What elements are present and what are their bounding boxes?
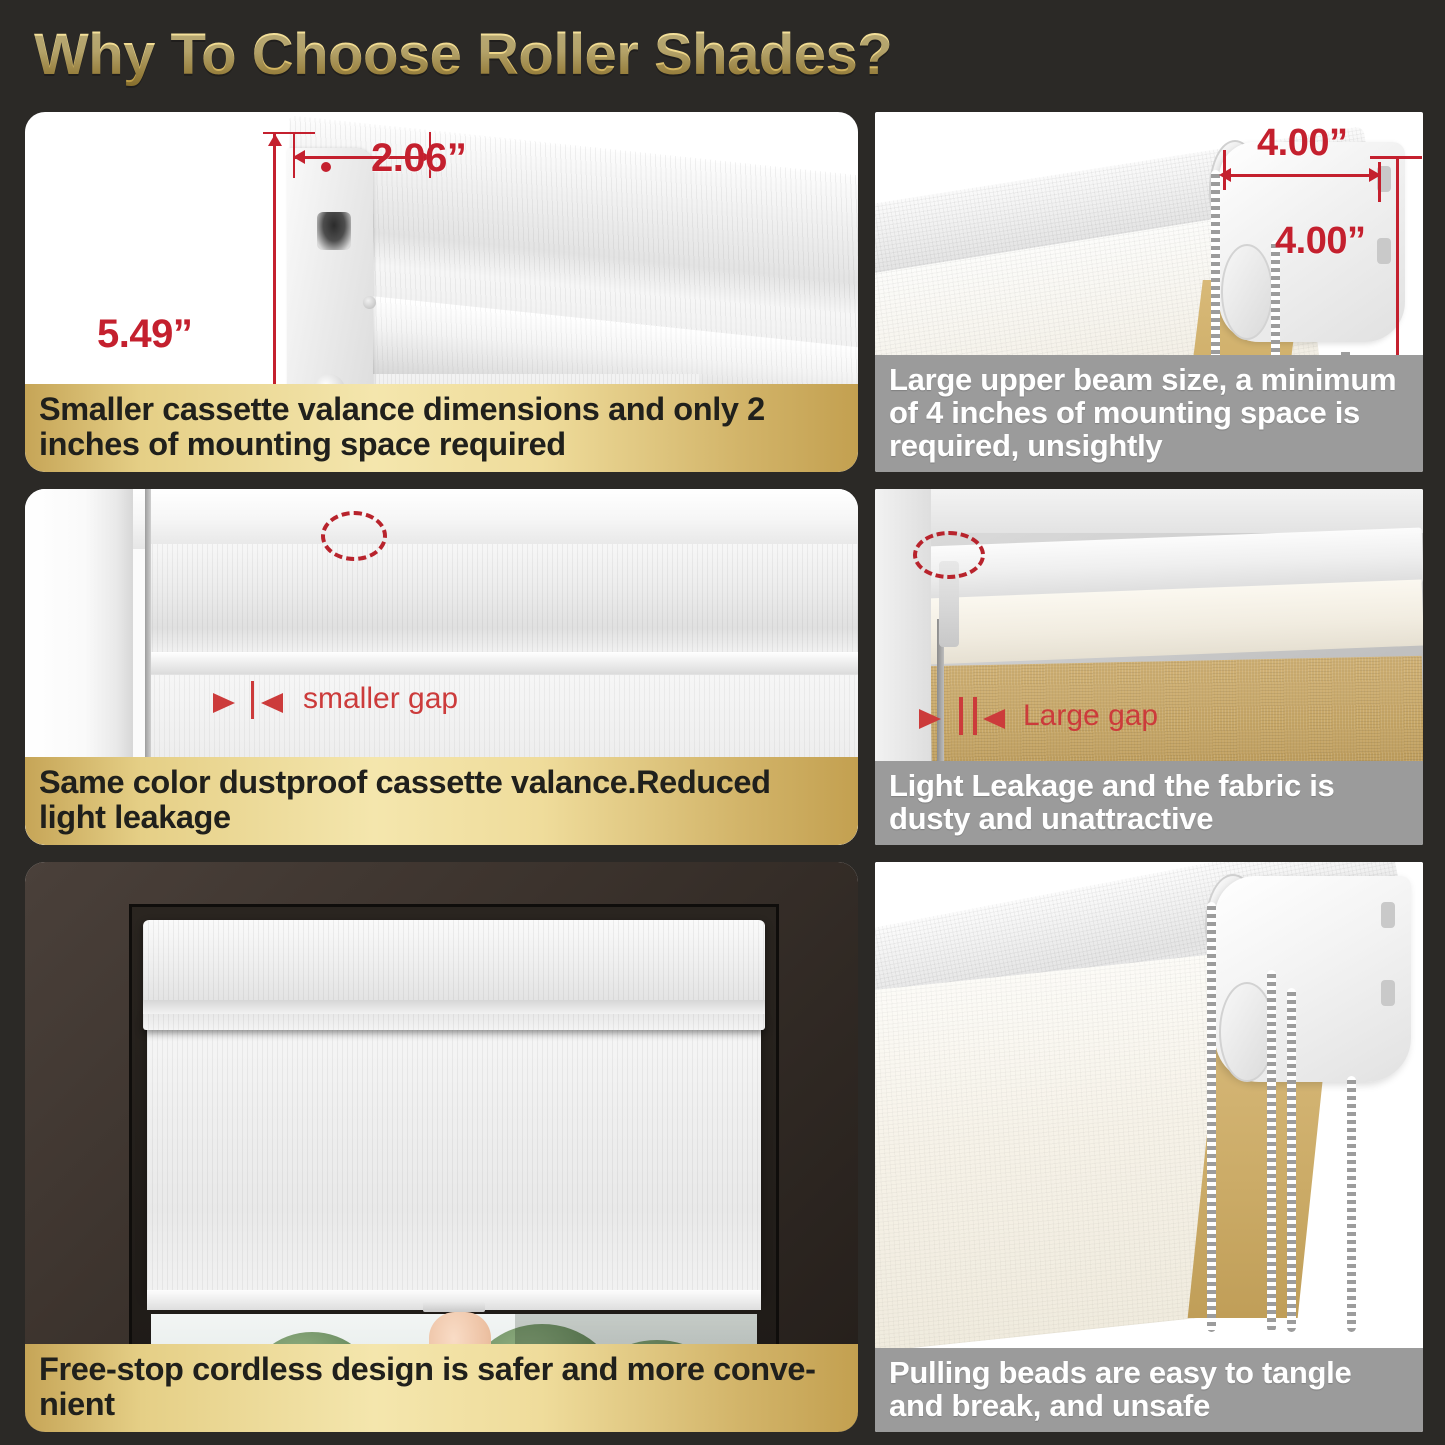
bead-chain-2 [1267, 970, 1276, 1332]
panel-2-caption: Large upper beam size, a minimum of 4 in… [875, 355, 1423, 472]
gap-callout-label: Large gap [1023, 699, 1158, 733]
gap-arrow-left [213, 693, 235, 713]
dim-arrow-up [268, 134, 282, 146]
page-title: Why To Choose Roller Shades? [34, 21, 892, 88]
shade-handle [423, 1302, 485, 1312]
gap-tick-b [973, 697, 977, 735]
panel-large-upper-beam: 4.00” 4.00” Large upper beam size, a min… [875, 112, 1423, 472]
highlight-circle-icon [321, 511, 387, 561]
bead-chain-1 [1207, 902, 1216, 1332]
gap-callout-label: smaller gap [303, 682, 458, 716]
dimension-label-height: 5.49” [97, 312, 192, 357]
dimension-label-width: 4.00” [1257, 122, 1347, 165]
panel-dustproof-cassette: smaller gap Same color dustproof cassett… [25, 489, 858, 845]
dim-line-width [1223, 174, 1381, 177]
dim-arrow-right [1369, 168, 1381, 182]
dimension-label-height: 4.00” [1275, 220, 1365, 263]
bead-chain-4 [1347, 1076, 1356, 1332]
panel-cordless-design: Free-stop cordless design is safer and m… [25, 862, 858, 1432]
bead-chain-3 [1287, 988, 1296, 1332]
panel-5-caption-line-1: Free-stop cordless design is safer and m… [39, 1351, 816, 1387]
panel-5-caption-line-2: nient [39, 1386, 115, 1422]
gap-tick [251, 681, 254, 719]
gap-arrow-left [919, 709, 941, 729]
dim-arrow-left [1219, 168, 1231, 182]
panel-3-caption: Same color dustproof cassette valance.Re… [25, 757, 858, 845]
panel-5-caption: Free-stop cordless design is safer and m… [25, 1344, 858, 1432]
panel-4-caption: Light Leakage and the fabric is dusty an… [875, 761, 1423, 845]
dim-arrow-left [293, 150, 305, 164]
dimension-label-width: 2.06” [371, 136, 466, 181]
panel-1-caption: Smaller cassette valance dimensions and … [25, 384, 858, 472]
panel-light-leakage: Large gap Light Leakage and the fabric i… [875, 489, 1423, 845]
gap-arrow-right [261, 693, 283, 713]
panel-smaller-cassette: 2.06” 5.49” Smaller cassette valance dim… [25, 112, 858, 472]
measure-point-dot [321, 162, 331, 172]
dim-cap-top [1370, 156, 1422, 159]
page-header: Why To Choose Roller Shades? [0, 0, 1445, 108]
panel-6-caption: Pulling beads are easy to tangle and bre… [875, 1348, 1423, 1432]
panel-pulling-beads: Pulling beads are easy to tangle and bre… [875, 862, 1423, 1432]
bead-chain-photo [875, 862, 1423, 1432]
gap-tick-a [959, 697, 963, 735]
highlight-circle-icon [913, 531, 985, 579]
gap-arrow-right [983, 709, 1005, 729]
